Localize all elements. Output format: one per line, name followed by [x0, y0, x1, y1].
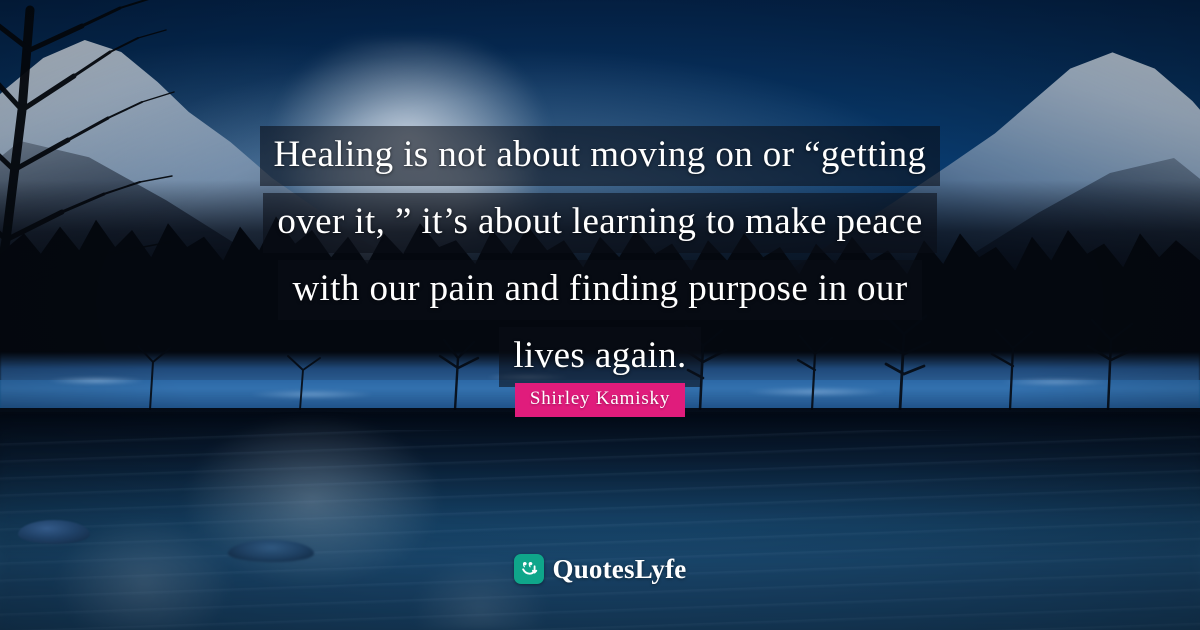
quote-smiley-icon — [514, 554, 544, 584]
author-attribution: Shirley Kamisky — [0, 383, 1200, 417]
quote-text: Healing is not about moving on or “getti… — [0, 126, 1200, 394]
quote-line-4: lives again. — [499, 327, 700, 387]
author-name-badge[interactable]: Shirley Kamisky — [515, 383, 685, 417]
brand-logo[interactable]: QuotesLyfe — [0, 554, 1200, 584]
quote-line-2: over it, ” it’s about learning to make p… — [263, 193, 936, 253]
quote-line-1: Healing is not about moving on or “getti… — [260, 126, 941, 186]
quote-card: Healing is not about moving on or “getti… — [0, 0, 1200, 630]
brand-name: QuotesLyfe — [553, 554, 687, 584]
quote-line-3: with our pain and finding purpose in our — [278, 260, 921, 320]
